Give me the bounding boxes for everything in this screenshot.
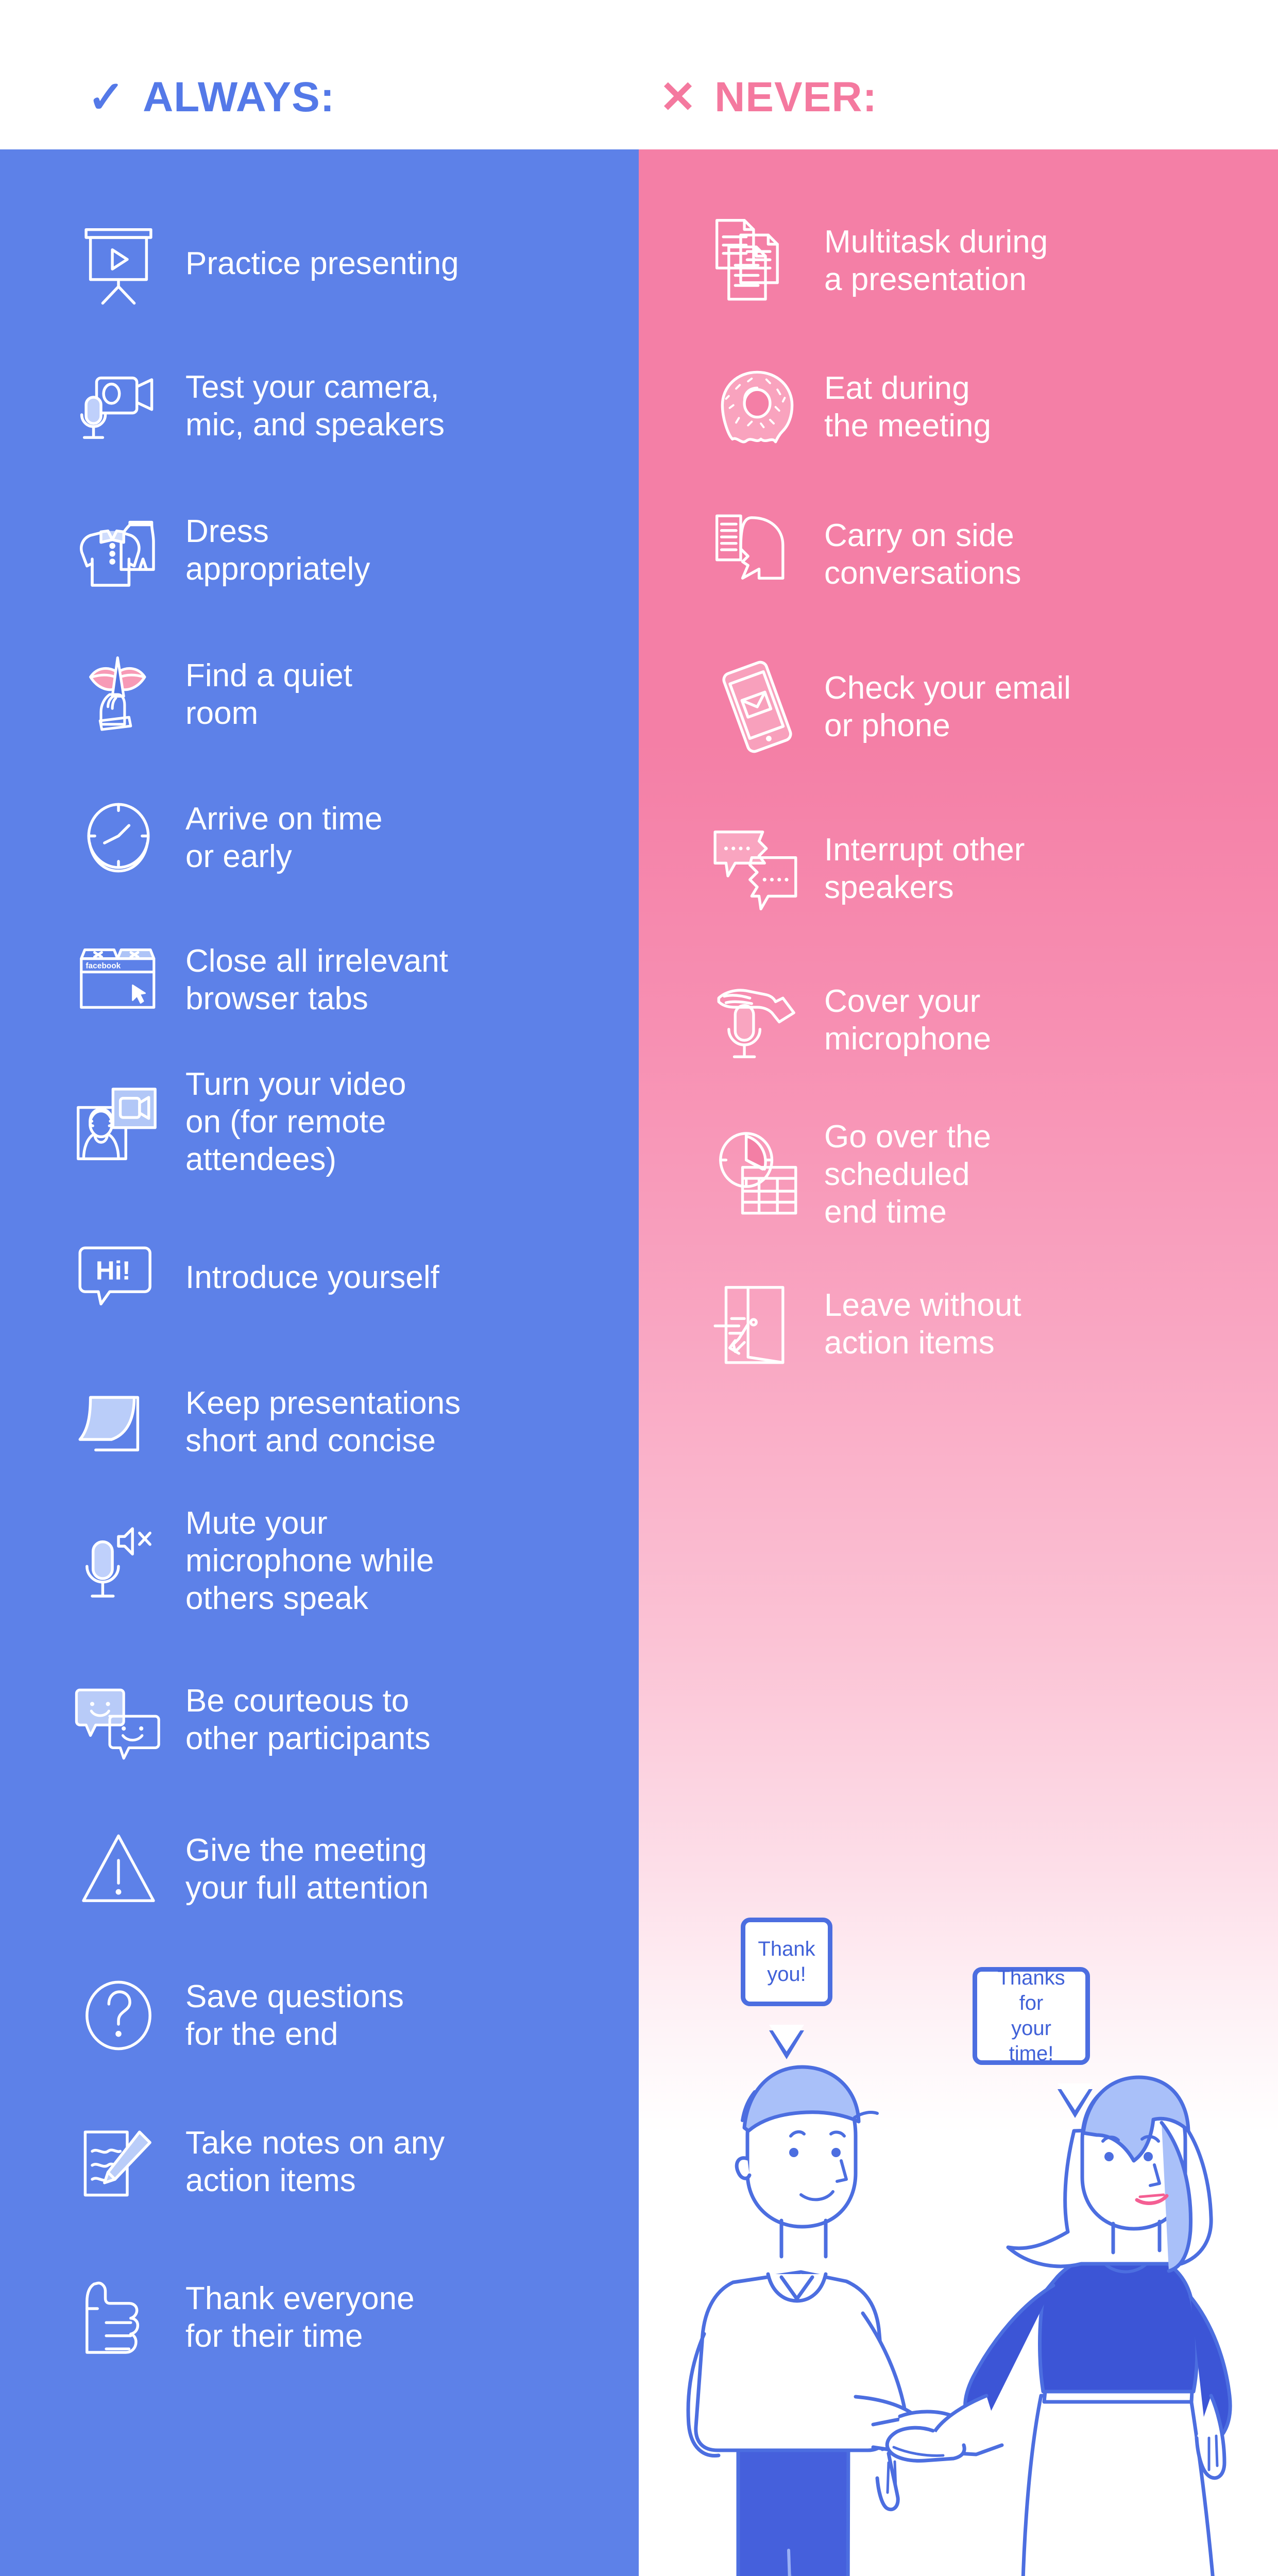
header-always-label: ALWAYS: bbox=[143, 73, 335, 122]
notepad-pencil-icon bbox=[67, 2110, 170, 2213]
speech-bubble-hi-icon: Hi! bbox=[67, 1226, 170, 1329]
list-item-label: Introduce yourself bbox=[185, 1259, 439, 1296]
list-item-label: Leave without action items bbox=[824, 1286, 1021, 1362]
header-never: ✕ NEVER: bbox=[659, 73, 877, 122]
list-item: Keep presentations short and concise bbox=[67, 1370, 644, 1473]
two-people-handshake-illustration bbox=[646, 2035, 1278, 2576]
list-item-label: Arrive on time or early bbox=[185, 800, 382, 875]
mute-microphone-icon bbox=[67, 1510, 170, 1613]
clock-icon bbox=[67, 786, 170, 889]
list-item: Thank everyone for their time bbox=[67, 2266, 644, 2369]
speech-bubble-thank-you: Thank you! bbox=[741, 1918, 832, 2006]
list-item: Practice presenting bbox=[67, 212, 644, 315]
head-talking-icon bbox=[706, 503, 809, 606]
list-item: Save questions for the end bbox=[67, 1964, 644, 2067]
list-item-label: Take notes on any action items bbox=[185, 2124, 445, 2199]
phone-envelope-icon bbox=[706, 655, 809, 758]
list-item: Check your email or phone bbox=[706, 655, 1278, 758]
list-item: Turn your video on (for remote attendees… bbox=[67, 1065, 644, 1178]
list-item-label: Close all irrelevant browser tabs bbox=[185, 942, 448, 1018]
list-item-label: Turn your video on (for remote attendees… bbox=[185, 1065, 406, 1178]
list-item-label: Test your camera, mic, and speakers bbox=[185, 368, 445, 444]
list-item: Take notes on any action items bbox=[67, 2110, 644, 2213]
list-item: Multitask during a presentation bbox=[706, 209, 1278, 312]
clock-calendar-icon bbox=[706, 1123, 809, 1226]
hand-over-microphone-icon bbox=[706, 969, 809, 1072]
warning-triangle-icon bbox=[67, 1818, 170, 1921]
list-item-label: Be courteous to other participants bbox=[185, 1682, 431, 1757]
list-item-label: Carry on side conversations bbox=[824, 517, 1021, 592]
camera-microphone-icon bbox=[67, 354, 170, 457]
overlapping-speech-bubbles-icon bbox=[706, 817, 809, 920]
donut-icon bbox=[706, 355, 809, 459]
list-item: Eat during the meeting bbox=[706, 355, 1278, 459]
shirt-clothing-icon bbox=[67, 499, 170, 602]
list-item: facebook Close all irrelevant browser ta… bbox=[67, 928, 644, 1031]
list-item-label: Keep presentations short and concise bbox=[185, 1384, 461, 1460]
list-item-label: Save questions for the end bbox=[185, 1978, 404, 2053]
cross-icon: ✕ bbox=[659, 75, 697, 120]
two-smiley-bubbles-icon bbox=[67, 1668, 170, 1771]
page-curl-icon bbox=[67, 1370, 170, 1473]
infographic-page: ✓ ALWAYS: ✕ NEVER: Practice presenting bbox=[0, 0, 1278, 2576]
list-item-label: Multitask during a presentation bbox=[824, 223, 1048, 298]
list-item: Interrupt other speakers bbox=[706, 817, 1278, 920]
list-item: Cover your microphone bbox=[706, 969, 1278, 1072]
list-item: Hi! Introduce yourself bbox=[67, 1226, 644, 1329]
header: ✓ ALWAYS: ✕ NEVER: bbox=[0, 0, 1278, 149]
quiet-shush-lips-icon bbox=[67, 643, 170, 746]
list-item-label: Check your email or phone bbox=[824, 669, 1071, 744]
open-door-walking-icon bbox=[706, 1273, 809, 1376]
list-item-label: Dress appropriately bbox=[185, 513, 370, 588]
list-item-label: Practice presenting bbox=[185, 245, 459, 282]
video-on-person-icon bbox=[67, 1071, 170, 1174]
header-always: ✓ ALWAYS: bbox=[88, 73, 335, 122]
check-icon: ✓ bbox=[88, 75, 125, 120]
hi-bubble-text: Hi! bbox=[96, 1256, 131, 1285]
list-item-label: Cover your microphone bbox=[824, 982, 991, 1058]
always-column: Practice presenting Test your camera, mi… bbox=[0, 149, 639, 2576]
list-item: Find a quiet room bbox=[67, 643, 644, 746]
question-mark-circle-icon bbox=[67, 1964, 170, 2067]
list-item-label: Mute your microphone while others speak bbox=[185, 1504, 434, 1617]
list-item: Arrive on time or early bbox=[67, 786, 644, 889]
list-item: Be courteous to other participants bbox=[67, 1668, 644, 1771]
browser-tab-label: facebook bbox=[86, 962, 121, 971]
header-never-label: NEVER: bbox=[714, 73, 877, 122]
list-item: Leave without action items bbox=[706, 1273, 1278, 1376]
speech-bubble-thank-you-text: Thank you! bbox=[758, 1937, 815, 1987]
stacked-documents-icon bbox=[706, 209, 809, 312]
browser-tabs-icon: facebook bbox=[67, 928, 170, 1031]
list-item-label: Thank everyone for their time bbox=[185, 2280, 415, 2355]
list-item-label: Go over the scheduled end time bbox=[824, 1118, 991, 1231]
list-item: Mute your microphone while others speak bbox=[67, 1504, 644, 1617]
thumbs-up-icon bbox=[67, 2266, 170, 2369]
list-item-label: Interrupt other speakers bbox=[824, 831, 1025, 906]
list-item-label: Find a quiet room bbox=[185, 657, 352, 732]
list-item: Test your camera, mic, and speakers bbox=[67, 354, 644, 457]
list-item: Dress appropriately bbox=[67, 499, 644, 602]
presentation-board-icon bbox=[67, 212, 170, 315]
list-item-label: Eat during the meeting bbox=[824, 369, 991, 445]
list-item: Give the meeting your full attention bbox=[67, 1818, 644, 1921]
list-item-label: Give the meeting your full attention bbox=[185, 1832, 429, 1907]
list-item: Go over the scheduled end time bbox=[706, 1118, 1278, 1231]
list-item: Carry on side conversations bbox=[706, 503, 1278, 606]
